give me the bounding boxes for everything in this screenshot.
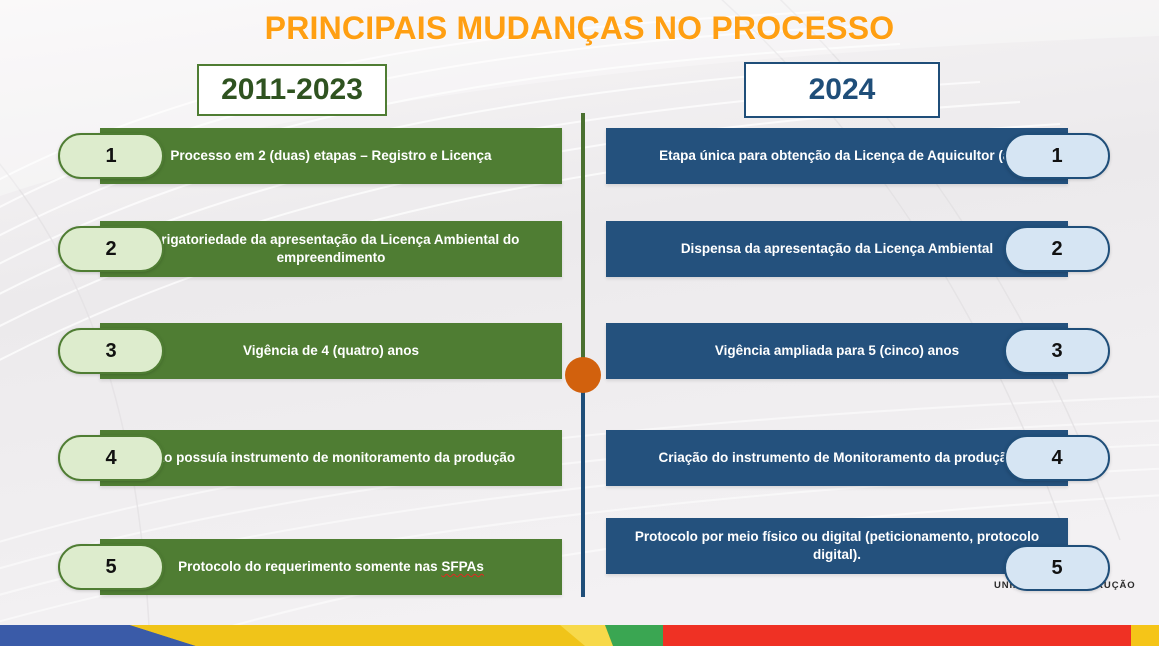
right-bar-2-text: Dispensa da apresentação da Licença Ambi… bbox=[671, 240, 1003, 258]
right-bar-5: Protocolo por meio físico ou digital (pe… bbox=[606, 518, 1068, 574]
right-row-4: Criação do instrumento de Monitoramento … bbox=[0, 430, 1159, 486]
bottom-color-bar bbox=[0, 625, 1159, 646]
right-pill-5-number: 5 bbox=[1051, 557, 1062, 580]
right-row-3: Vigência ampliada para 5 (cinco) anos 3 bbox=[0, 323, 1159, 379]
right-pill-4-number: 4 bbox=[1051, 447, 1062, 470]
right-bar-4-text: Criação do instrumento de Monitoramento … bbox=[648, 449, 1025, 467]
slide-canvas: PRINCIPAIS MUDANÇAS NO PROCESSO 2011-202… bbox=[0, 0, 1159, 646]
right-pill-2-number: 2 bbox=[1051, 238, 1062, 261]
right-bar-3: Vigência ampliada para 5 (cinco) anos bbox=[606, 323, 1068, 379]
column-header-left: 2011-2023 bbox=[197, 64, 387, 116]
right-bar-4: Criação do instrumento de Monitoramento … bbox=[606, 430, 1068, 486]
right-pill-2: 2 bbox=[1004, 226, 1110, 272]
right-pill-1-number: 1 bbox=[1051, 145, 1062, 168]
right-bar-2: Dispensa da apresentação da Licença Ambi… bbox=[606, 221, 1068, 277]
right-pill-1: 1 bbox=[1004, 133, 1110, 179]
right-row-1: Etapa única para obtenção da Licença de … bbox=[0, 128, 1159, 184]
right-row-5: Protocolo por meio físico ou digital (pe… bbox=[0, 518, 1159, 574]
right-pill-4: 4 bbox=[1004, 435, 1110, 481]
column-header-left-label: 2011-2023 bbox=[221, 73, 363, 107]
right-row-2: Dispensa da apresentação da Licença Ambi… bbox=[0, 221, 1159, 277]
slide-title: PRINCIPAIS MUDANÇAS NO PROCESSO bbox=[0, 10, 1159, 47]
column-header-right: 2024 bbox=[744, 62, 940, 118]
right-pill-3-number: 3 bbox=[1051, 340, 1062, 363]
right-pill-3: 3 bbox=[1004, 328, 1110, 374]
right-bar-3-text: Vigência ampliada para 5 (cinco) anos bbox=[705, 342, 969, 360]
right-bar-1: Etapa única para obtenção da Licença de … bbox=[606, 128, 1068, 184]
right-pill-5: 5 bbox=[1004, 545, 1110, 591]
column-header-right-label: 2024 bbox=[809, 73, 876, 107]
right-bar-5-text: Protocolo por meio físico ou digital (pe… bbox=[606, 528, 1068, 563]
right-bar-1-text: Etapa única para obtenção da Licença de … bbox=[649, 147, 1025, 165]
